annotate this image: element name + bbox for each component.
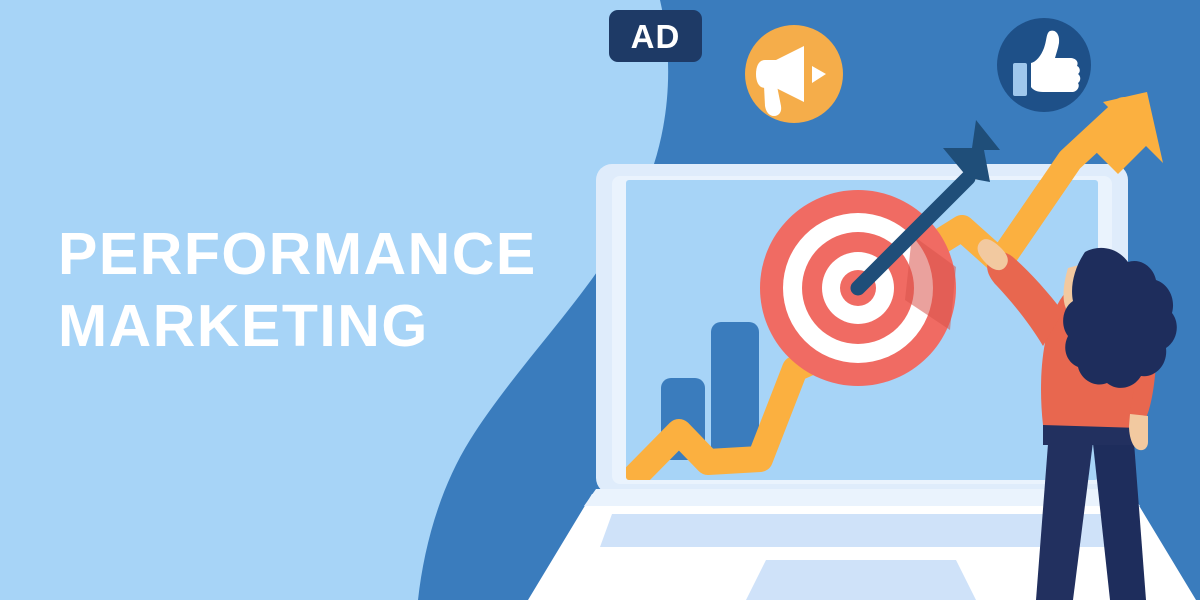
ad-badge: AD xyxy=(609,10,702,62)
ad-badge-label: AD xyxy=(631,20,681,53)
performance-marketing-banner: AD PERFORMANCE MARKETING xyxy=(0,0,1200,600)
banner-illustration xyxy=(0,0,1200,600)
megaphone-icon-body xyxy=(756,60,779,88)
megaphone-icon xyxy=(745,25,843,123)
chart-bar-2 xyxy=(711,322,759,462)
thumbs-up-icon xyxy=(997,18,1091,112)
thumbs-up-icon-cuff xyxy=(1013,63,1027,96)
laptop-trackpad xyxy=(746,560,976,600)
